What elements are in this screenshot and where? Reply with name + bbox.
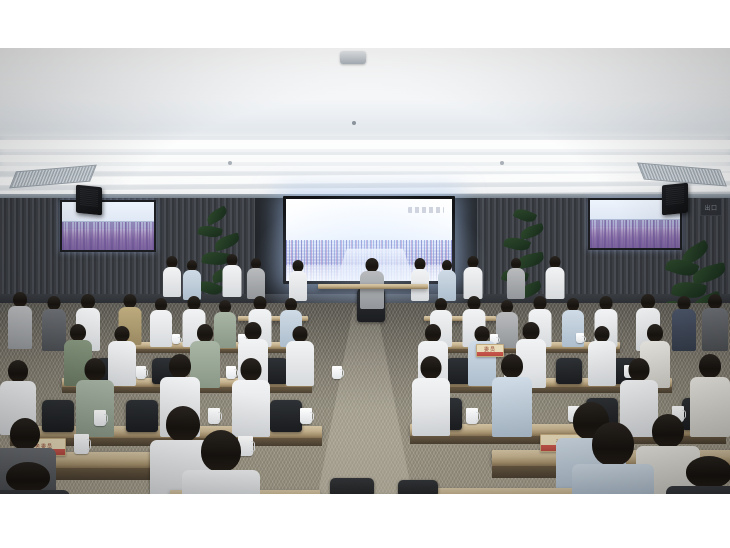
ceiling-sprinkler-icon [500,161,504,165]
attendee [163,256,181,296]
control-desk [318,284,428,289]
attendee [702,294,728,350]
attendee [666,456,730,494]
cup [94,410,106,426]
screen-sky-region [286,199,452,245]
attendee [8,292,32,348]
wall-speaker-left [76,185,102,216]
attendee [412,356,450,434]
ceiling-light-strip [0,166,730,171]
cup [136,366,146,379]
wall-speaker-right [662,183,688,216]
cup [172,334,180,344]
attendee [588,326,616,384]
ceiling-sprinkler-icon [228,161,232,165]
wall-sign: 出口 [700,198,722,216]
attendee [289,260,307,300]
attendee [222,254,241,296]
attendee [411,258,429,300]
attendee [182,430,260,494]
front-row-operator [360,258,384,308]
attendee [42,296,66,350]
photo-letterbox-frame: 出口 [0,0,730,548]
attendee [463,256,482,298]
chair [398,480,438,494]
cup [74,434,89,454]
ceiling-light-strip [0,155,730,162]
attendee [150,298,172,346]
chair [556,358,582,384]
ceiling [0,48,730,198]
cup [332,366,342,379]
attendee [438,260,456,300]
cup [466,408,478,424]
attendee [545,256,564,298]
cup [300,408,312,424]
attendee [232,358,270,434]
side-led-screen-left [60,200,156,252]
screen-watermark [408,207,444,213]
attendee [0,462,70,494]
attendee [507,258,525,298]
attendee [572,422,654,494]
cup [576,333,584,343]
ceiling-light-strip [0,140,730,149]
desk-row [430,488,580,494]
smoke-detector-icon [340,51,366,64]
attendee [492,354,532,434]
chair [270,400,302,432]
chair [330,478,374,494]
ceiling-sprinkler-icon [352,121,356,125]
attendee [672,296,696,350]
attendee [183,260,201,298]
attendee [286,326,314,384]
attendee [247,258,265,298]
conference-room-photograph: 出口 [0,48,730,494]
